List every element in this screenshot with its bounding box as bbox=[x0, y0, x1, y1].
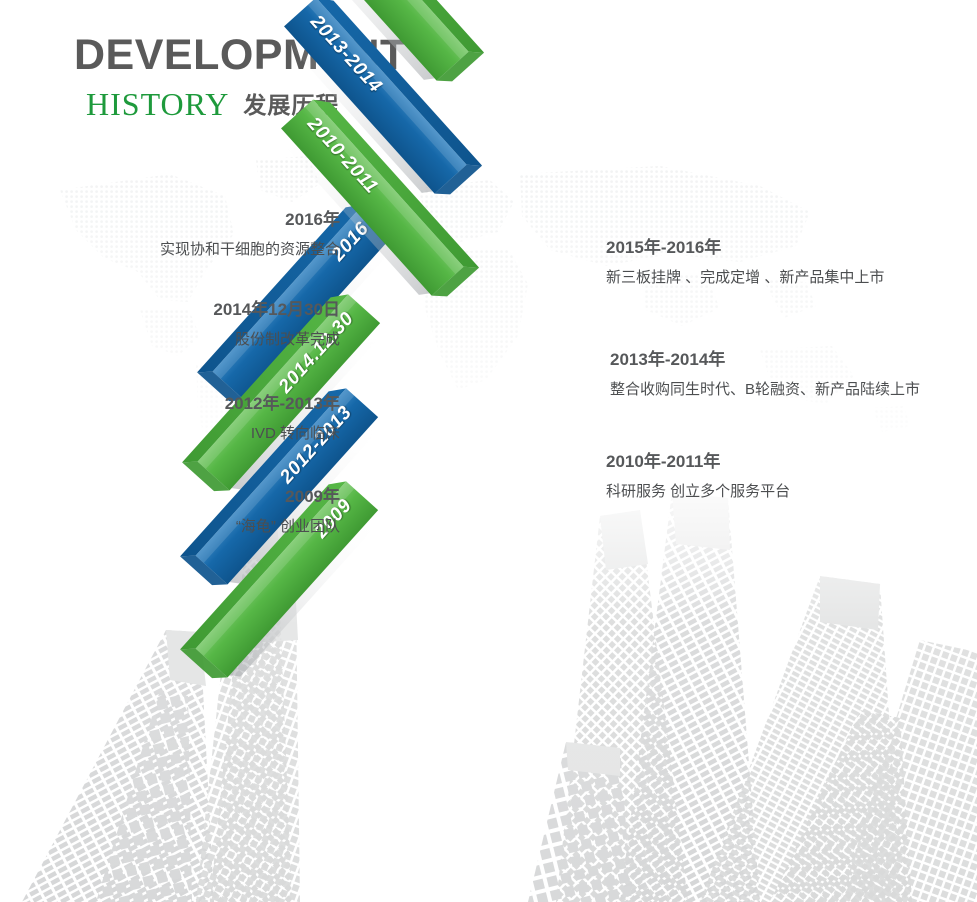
entry-description: 实现协和干细胞的资源整合 bbox=[160, 238, 340, 262]
entry-year: 2014年12月30日 bbox=[213, 298, 340, 322]
entry-year: 2009年 bbox=[236, 485, 340, 509]
development-history-infographic: DEVELOPMENT HISTORY 发展历程 20162014.12.302… bbox=[0, 0, 977, 902]
timeline-entry-2015-2016[interactable]: 2015年-2016年新三板挂牌 、完成定增 、新产品集中上市 bbox=[606, 236, 884, 290]
entry-year: 2013年-2014年 bbox=[610, 348, 920, 372]
timeline-entry-2016[interactable]: 2016年实现协和干细胞的资源整合 bbox=[160, 208, 340, 262]
timeline-entry-2014.12.30[interactable]: 2014年12月30日股份制改革完成 bbox=[213, 298, 340, 352]
entry-year: 2015年-2016年 bbox=[606, 236, 884, 260]
timeline-entry-2013-2014[interactable]: 2013年-2014年整合收购同生时代、B轮融资、新产品陆续上市 bbox=[610, 348, 920, 402]
entry-year: 2012年-2013年 bbox=[225, 392, 340, 416]
entry-description: 股份制改革完成 bbox=[213, 328, 340, 352]
timeline-entries: 2016年实现协和干细胞的资源整合2014年12月30日股份制改革完成2012年… bbox=[0, 0, 977, 902]
entry-year: 2010年-2011年 bbox=[606, 450, 790, 474]
entry-description: IVD 转向临床 bbox=[225, 422, 340, 446]
entry-year: 2016年 bbox=[160, 208, 340, 232]
entry-description: 新三板挂牌 、完成定增 、新产品集中上市 bbox=[606, 266, 884, 290]
entry-description: 科研服务 创立多个服务平台 bbox=[606, 480, 790, 504]
timeline-entry-2009[interactable]: 2009年“海龟” 创业团队 bbox=[236, 485, 340, 539]
timeline-entry-2010-2011[interactable]: 2010年-2011年科研服务 创立多个服务平台 bbox=[606, 450, 790, 504]
entry-description: “海龟” 创业团队 bbox=[236, 515, 340, 539]
timeline-entry-2012-2013[interactable]: 2012年-2013年IVD 转向临床 bbox=[225, 392, 340, 446]
entry-description: 整合收购同生时代、B轮融资、新产品陆续上市 bbox=[610, 378, 920, 402]
